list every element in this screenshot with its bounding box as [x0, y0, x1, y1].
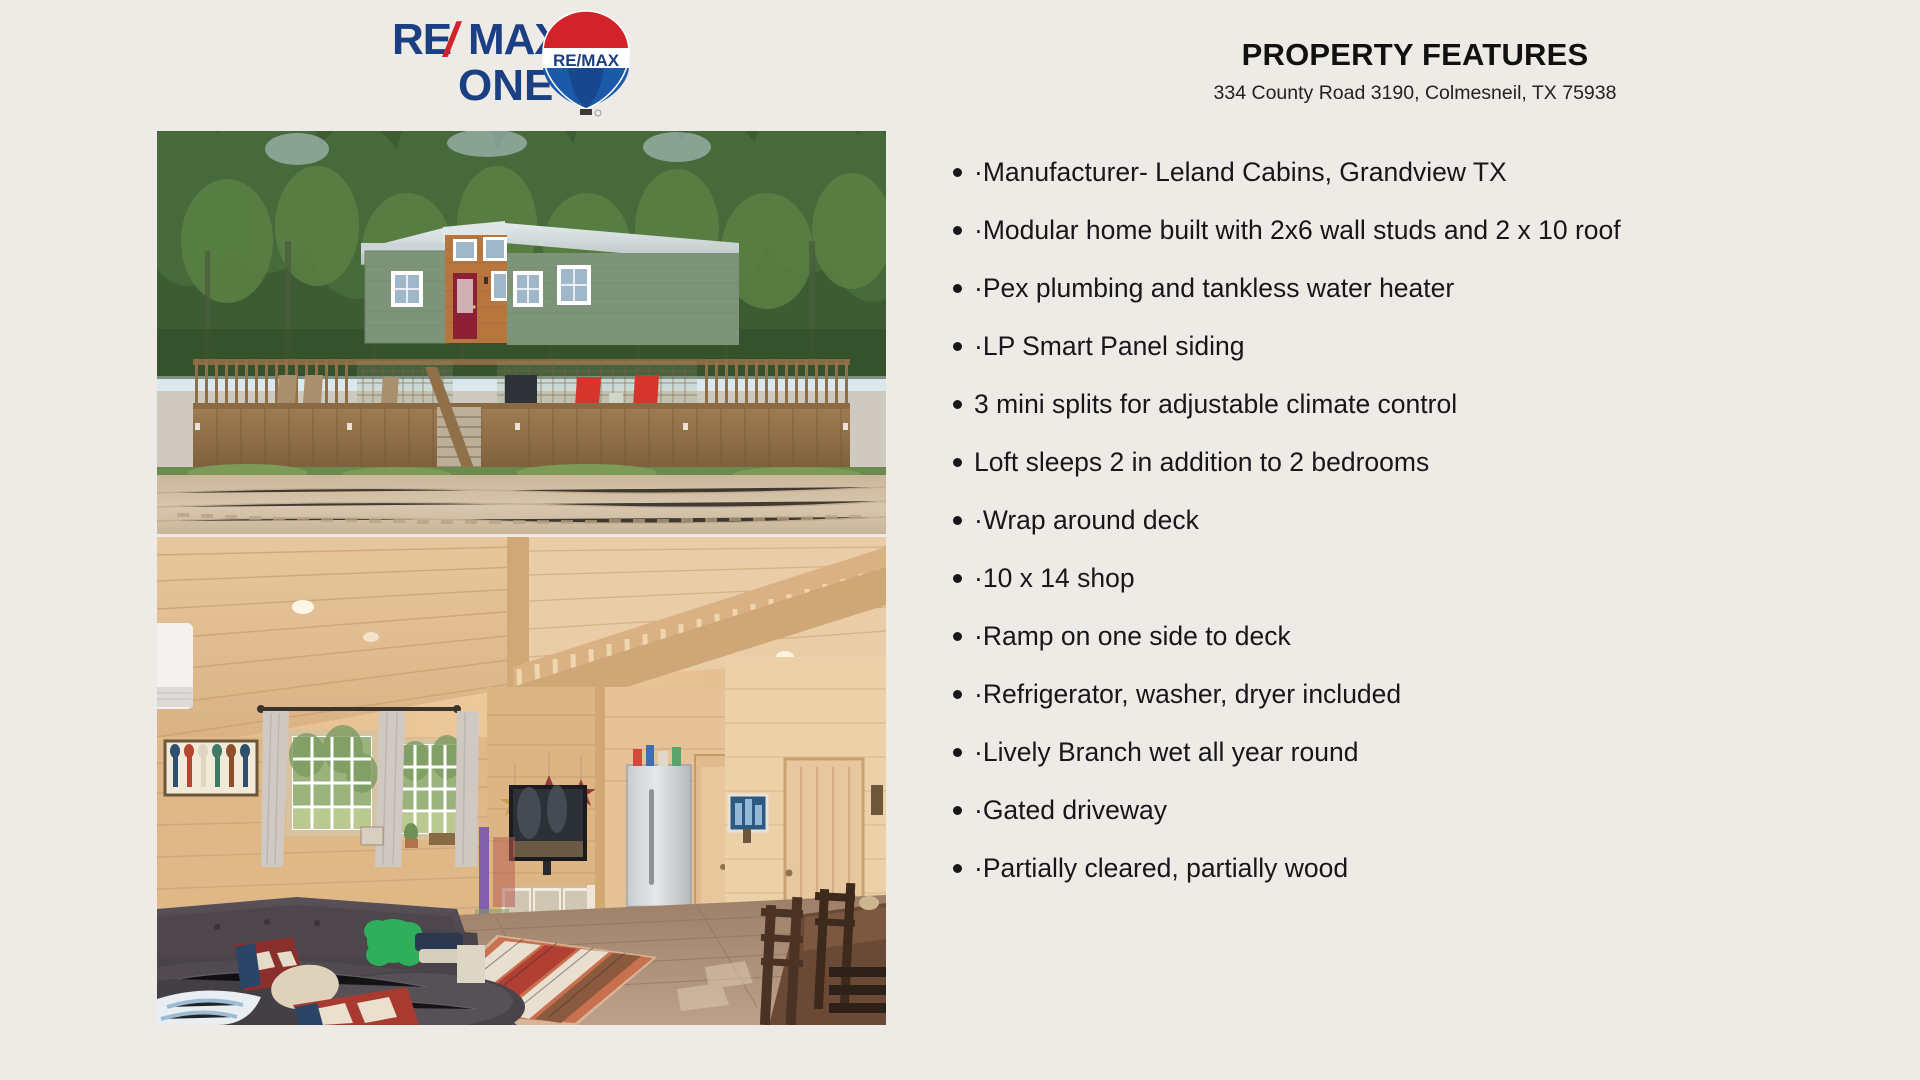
- bullet-icon: [953, 400, 962, 409]
- bullet-icon: [953, 864, 962, 873]
- list-item: ·Refrigerator, washer, dryer included: [910, 665, 1920, 723]
- list-item-label: ·Modular home built with 2x6 wall studs …: [974, 216, 1621, 245]
- bullet-icon: [953, 516, 962, 525]
- property-features-panel: PROPERTY FEATURES 334 County Road 3190, …: [910, 0, 1920, 1080]
- list-item-label: ·10 x 14 shop: [974, 564, 1135, 593]
- list-item-label: ·Lively Branch wet all year round: [974, 738, 1358, 767]
- bullet-icon: [953, 748, 962, 757]
- list-item: ·10 x 14 shop: [910, 549, 1920, 607]
- property-address: 334 County Road 3190, Colmesneil, TX 759…: [910, 72, 1920, 105]
- svg-text:RE/MAX: RE/MAX: [553, 51, 620, 70]
- bullet-icon: [953, 168, 962, 177]
- list-item: ·Lively Branch wet all year round: [910, 723, 1920, 781]
- list-item: ·Partially cleared, partially wood: [910, 839, 1920, 897]
- list-item: 3 mini splits for adjustable climate con…: [910, 375, 1920, 433]
- list-item: ·Pex plumbing and tankless water heater: [910, 259, 1920, 317]
- remax-one-logo: RE / MAX ONE RE/MAX: [390, 8, 650, 118]
- list-item-label: 3 mini splits for adjustable climate con…: [974, 390, 1457, 419]
- list-item: Loft sleeps 2 in addition to 2 bedrooms: [910, 433, 1920, 491]
- bullet-icon: [953, 632, 962, 641]
- list-item-label: ·Manufacturer- Leland Cabins, Grandview …: [974, 158, 1507, 187]
- list-item: ·Ramp on one side to deck: [910, 607, 1920, 665]
- list-item-label: ·Wrap around deck: [974, 506, 1199, 535]
- list-item-label: ·Ramp on one side to deck: [974, 622, 1291, 651]
- list-item-label: ·Gated driveway: [974, 796, 1167, 825]
- list-item: ·LP Smart Panel siding: [910, 317, 1920, 375]
- features-list: ·Manufacturer- Leland Cabins, Grandview …: [910, 105, 1920, 897]
- list-item: ·Manufacturer- Leland Cabins, Grandview …: [910, 143, 1920, 201]
- interior-living-room-photo: [157, 537, 886, 1025]
- bullet-icon: [953, 458, 962, 467]
- list-item-label: ·Pex plumbing and tankless water heater: [974, 274, 1454, 303]
- svg-text:ONE: ONE: [458, 61, 553, 110]
- bullet-icon: [953, 806, 962, 815]
- list-item-label: ·Refrigerator, washer, dryer included: [974, 680, 1401, 709]
- list-item: ·Modular home built with 2x6 wall studs …: [910, 201, 1920, 259]
- bullet-icon: [953, 342, 962, 351]
- page-title: PROPERTY FEATURES: [910, 0, 1920, 72]
- bullet-icon: [953, 574, 962, 583]
- list-item-label: ·Partially cleared, partially wood: [974, 854, 1348, 883]
- bullet-icon: [953, 226, 962, 235]
- list-item-label: ·LP Smart Panel siding: [974, 332, 1245, 361]
- bullet-icon: [953, 284, 962, 293]
- list-item-label: Loft sleeps 2 in addition to 2 bedrooms: [974, 448, 1429, 477]
- exterior-front-photo: [157, 131, 886, 534]
- bullet-icon: [953, 690, 962, 699]
- list-item: ·Wrap around deck: [910, 491, 1920, 549]
- list-item: ·Gated driveway: [910, 781, 1920, 839]
